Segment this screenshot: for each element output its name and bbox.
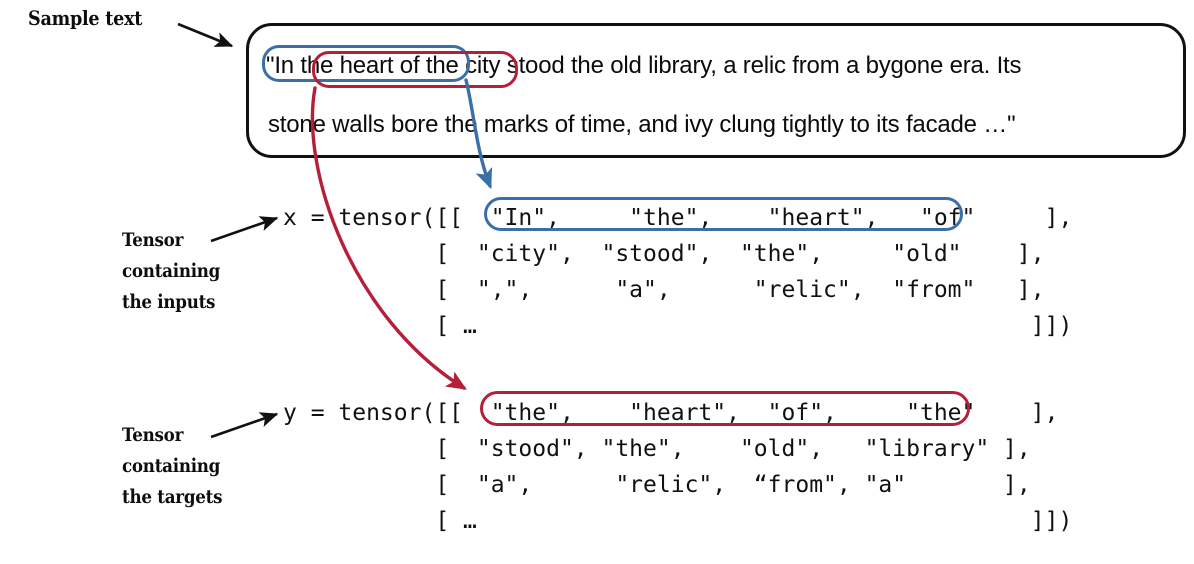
inputs-tensor-label: Tensor containing the inputs [122,225,220,318]
inputs-pointer-arrow [211,218,277,241]
tensor-x-first-row-highlight [484,197,963,231]
targets-tensor-label: Tensor containing the targets [122,420,222,513]
target-span-highlight [312,51,518,88]
sample-text-line-2: stone walls bore the marks of time, and … [268,111,1015,139]
sample-text-pointer-arrow [178,24,232,46]
sample-text-label: Sample text [28,3,142,34]
tensor-y-first-row-highlight [480,391,970,426]
diagram-canvas: Sample text Tensor containing the inputs… [0,0,1194,564]
